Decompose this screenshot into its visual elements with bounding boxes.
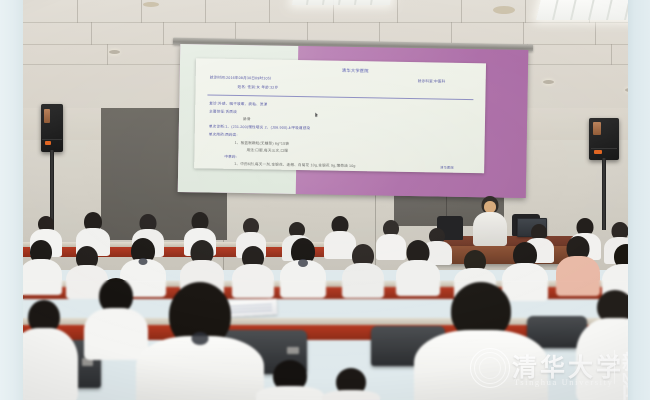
slide-line: 单次诊断:1、(J31.200)慢性咽炎 2、(J06.900)上呼吸道感染 xyxy=(209,124,311,131)
left-border xyxy=(0,0,23,400)
audience-member xyxy=(555,236,601,294)
room-scene: 清华大学医院 就诊科室:中医科 就诊时间:2016年08月30日09时10分 姓… xyxy=(23,0,628,400)
slide-line: 1、中药6剂,每天一剂,金银花、连翘、白菊花 10g,金银花 9g,薄荷油 10… xyxy=(234,162,356,169)
slide-footer-note: 清华医院 xyxy=(440,165,454,170)
presenter-body xyxy=(473,212,507,246)
recessed-downlight xyxy=(543,80,554,84)
audience-member-front-right xyxy=(413,282,549,400)
audience-member xyxy=(279,238,327,296)
slide-visit-time: 就诊时间:2016年08月30日09时10分 xyxy=(210,75,272,81)
audience-member xyxy=(23,240,63,292)
fluorescent-panel-right xyxy=(536,0,628,20)
slide-divider xyxy=(207,94,473,100)
projected-slide: 清华大学医院 就诊科室:中医科 就诊时间:2016年08月30日09时10分 姓… xyxy=(194,58,486,173)
slide-patient: 姓名: 性别:女 年龄:32岁 xyxy=(238,85,279,91)
slide-line: 复诊:外感、咽干咳嗽、痰粘、流涕 xyxy=(209,101,267,107)
lecture-hall-photo: 清华大学医院 就诊科室:中医科 就诊时间:2016年08月30日09时10分 姓… xyxy=(0,0,650,400)
mouse-cursor-icon xyxy=(315,112,318,117)
slide-line: 主要体征:舌质淡 xyxy=(209,109,237,114)
audience-member xyxy=(341,244,385,296)
recessed-downlight xyxy=(109,50,120,54)
audience-member-front-center xyxy=(135,282,265,400)
audience-member xyxy=(23,300,79,400)
loudspeaker-left xyxy=(41,104,63,152)
loudspeaker-right xyxy=(589,118,619,160)
slide-line: 1、板蓝根颗粒(无糖型) 6g*15袋 xyxy=(235,141,290,147)
ceiling-vent-2 xyxy=(143,2,159,7)
fluorescent-panel-top xyxy=(292,0,392,5)
speaker-stand-right xyxy=(602,158,606,230)
audience-member xyxy=(575,290,628,400)
slide-dept: 就诊科室:中医科 xyxy=(418,79,446,84)
slide-line: 中草药: xyxy=(224,155,237,160)
hair-tie xyxy=(139,258,148,265)
audience-member xyxy=(321,368,381,400)
audience-member xyxy=(255,360,325,400)
slide-header: 清华大学医院 xyxy=(342,68,369,74)
slide-line: 用法:口服,每天三次,口服 xyxy=(246,148,288,154)
hair-tie xyxy=(298,259,308,267)
slide-line: 单次用药:西药类: xyxy=(209,132,238,138)
hair-tie xyxy=(192,332,209,345)
presenter xyxy=(470,196,510,244)
right-border xyxy=(628,0,650,400)
slide-line: 脉滑 xyxy=(243,117,251,122)
ceiling-vent xyxy=(493,6,515,14)
projection-screen[interactable]: 清华大学医院 就诊科室:中医科 就诊时间:2016年08月30日09时10分 姓… xyxy=(178,44,529,198)
